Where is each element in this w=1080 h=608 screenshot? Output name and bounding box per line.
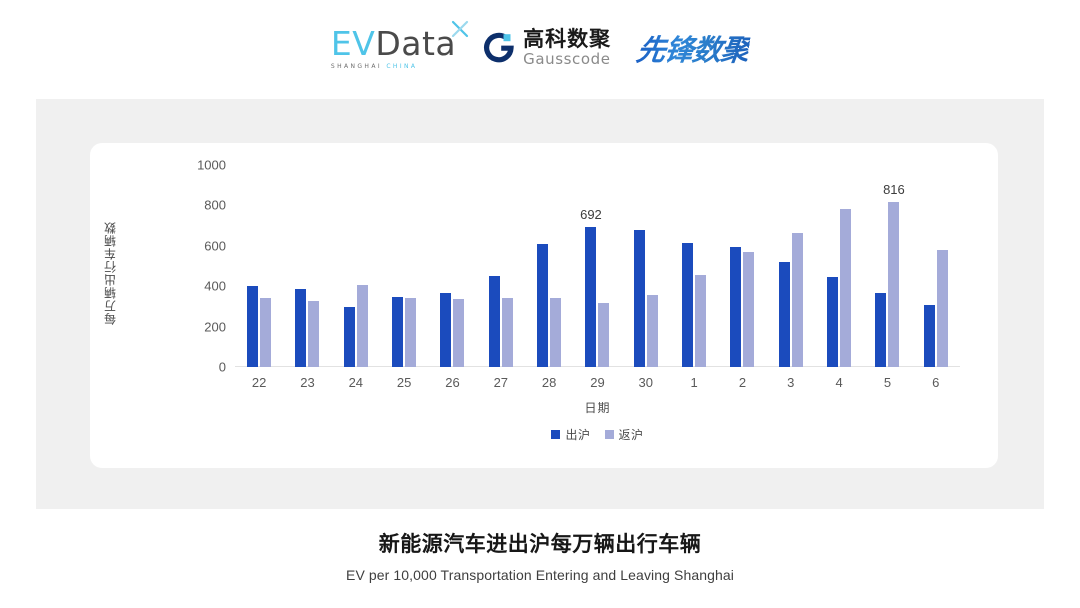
bar: [743, 252, 754, 367]
legend-label: 返沪: [619, 426, 644, 443]
xianfeng-wordmark: 先锋数聚: [634, 27, 752, 69]
y-axis-tick: 400: [204, 279, 226, 294]
evdata-letters-data: Data: [375, 24, 456, 63]
x-axis-tick: 22: [235, 375, 283, 390]
bar-groups: 692816: [235, 165, 960, 367]
x-axis-tick: 2: [718, 375, 766, 390]
bar-group: [767, 165, 815, 367]
bar: [792, 233, 803, 367]
bar-group: [235, 165, 283, 367]
chart-legend: 出沪返沪: [235, 426, 960, 443]
bar-group: 692: [573, 165, 621, 367]
legend-item[interactable]: 返沪: [605, 426, 644, 443]
bar: [827, 277, 838, 367]
x-axis-tick: 29: [573, 375, 621, 390]
bar: [502, 298, 513, 367]
legend-swatch-icon: [551, 430, 560, 439]
bar-group: [428, 165, 476, 367]
legend-swatch-icon: [605, 430, 614, 439]
bar-group: [283, 165, 331, 367]
bar: [357, 285, 368, 367]
y-axis-tick: 1000: [197, 158, 226, 173]
caption-english: EV per 10,000 Transportation Entering an…: [0, 567, 1080, 583]
bar: [937, 250, 948, 367]
bar-group: [332, 165, 380, 367]
gausscode-mark-icon: [482, 31, 516, 65]
bar: [489, 276, 500, 367]
bar: [392, 297, 403, 367]
bar: [730, 247, 741, 367]
evdata-logo: EVData SHANGHAI CHINA: [331, 27, 456, 70]
x-axis-ticks: 222324252627282930123456: [235, 375, 960, 390]
x-axis-tick: 25: [380, 375, 428, 390]
bar: [840, 209, 851, 367]
evdata-tagline-country: CHINA: [386, 63, 417, 70]
gausscode-en-name: Gausscode: [523, 52, 611, 67]
y-axis-tick: 800: [204, 198, 226, 213]
evdata-tagline-city: SHANGHAI: [331, 63, 382, 70]
legend-item[interactable]: 出沪: [551, 426, 590, 443]
y-axis-tick: 200: [204, 319, 226, 334]
x-axis-tick: 26: [428, 375, 476, 390]
y-axis-tick: 0: [219, 360, 226, 375]
bar-value-label: 816: [883, 182, 905, 197]
bar-chart: 每万辆出行车辆数 692816 10008006004002000 222324…: [90, 143, 998, 468]
bar: [260, 298, 271, 367]
bar: [550, 298, 561, 367]
bar-group: [622, 165, 670, 367]
caption-chinese: 新能源汽车进出沪每万辆出行车辆: [0, 528, 1080, 558]
evdata-letter-e: E: [331, 24, 352, 63]
evdata-wordmark: EVData: [331, 27, 456, 60]
x-axis-tick: 1: [670, 375, 718, 390]
x-axis-title: 日期: [235, 399, 960, 416]
bar: [598, 303, 609, 367]
evdata-letter-v: V: [352, 24, 375, 63]
x-axis-tick: 27: [477, 375, 525, 390]
x-axis-tick: 23: [283, 375, 331, 390]
bar: [440, 293, 451, 367]
bar-group: [477, 165, 525, 367]
x-mark-icon: [451, 20, 469, 38]
bar: [682, 243, 693, 367]
chart-card: 每万辆出行车辆数 692816 10008006004002000 222324…: [90, 143, 998, 468]
y-axis-title: 每万辆出行车辆数: [98, 193, 122, 353]
x-axis-tick: 5: [863, 375, 911, 390]
chart-panel: 每万辆出行车辆数 692816 10008006004002000 222324…: [36, 99, 1044, 509]
legend-label: 出沪: [565, 426, 590, 443]
y-axis-tick: 600: [204, 238, 226, 253]
bar: [634, 230, 645, 367]
xianfeng-logo: 先锋数聚: [637, 27, 749, 69]
bar: [344, 307, 355, 367]
plot-area: 692816 10008006004002000: [235, 165, 960, 367]
x-axis-tick: 6: [912, 375, 960, 390]
bar-group: [815, 165, 863, 367]
bar: [295, 289, 306, 367]
caption-block: 新能源汽车进出沪每万辆出行车辆 EV per 10,000 Transporta…: [0, 528, 1080, 583]
bar: [537, 244, 548, 367]
bar: [779, 262, 790, 367]
x-axis-tick: 3: [767, 375, 815, 390]
bar: [924, 305, 935, 367]
gausscode-cn-name: 高科数聚: [523, 29, 611, 50]
bar-group: [380, 165, 428, 367]
bar: [647, 295, 658, 367]
bar: [875, 293, 886, 367]
x-axis-tick: 28: [525, 375, 573, 390]
evdata-tagline: SHANGHAI CHINA: [331, 63, 418, 70]
bar-group: [912, 165, 960, 367]
gausscode-logo: 高科数聚 Gausscode: [482, 29, 611, 67]
bar: 816: [888, 202, 899, 367]
bar: [405, 298, 416, 367]
bar-value-label: 692: [580, 207, 602, 222]
logo-strip: EVData SHANGHAI CHINA 高科数聚 Gausscode 先锋数…: [0, 0, 1080, 96]
x-axis-tick: 24: [332, 375, 380, 390]
bar-group: 816: [863, 165, 911, 367]
bar-group: [525, 165, 573, 367]
bar: 692: [585, 227, 596, 367]
bar: [695, 275, 706, 367]
bar: [247, 286, 258, 367]
x-axis-tick: 4: [815, 375, 863, 390]
bar: [453, 299, 464, 367]
x-axis-tick: 30: [622, 375, 670, 390]
bar-group: [718, 165, 766, 367]
bar: [308, 301, 319, 367]
bar-group: [670, 165, 718, 367]
